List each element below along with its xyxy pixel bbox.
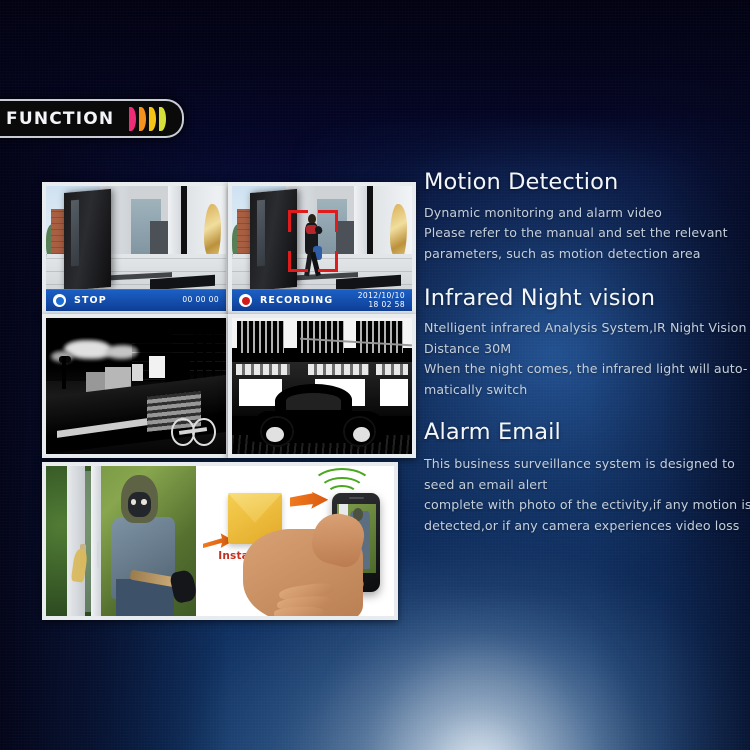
balcony-3: [356, 321, 403, 356]
feature-block-alarm-email: Alarm Email This business surveillance s…: [424, 420, 744, 536]
awning-3: [376, 364, 408, 375]
feature-line: Dynamic monitoring and alarm video: [424, 203, 744, 224]
balcony-1: [237, 321, 284, 356]
function-banner-bars: [129, 107, 166, 131]
car-window: [286, 393, 342, 410]
detection-corner-bottom-left: [288, 251, 308, 273]
window-frame-left: [67, 466, 85, 616]
feature-line: Distance 30M: [424, 339, 744, 360]
status-label-recording: RECORDING: [260, 295, 333, 306]
camera-card-night-alley: [42, 314, 230, 458]
feature-block-infrared-night-vision: Infrared Night vision Ntelligent infrare…: [424, 286, 744, 400]
promo-slide: FUNCTION: [0, 0, 750, 750]
detection-corner-top-left: [288, 210, 308, 232]
facade-cornice: [232, 353, 412, 361]
camera-card-motion-recording: RECORDING 2012/10/10 18 02 58: [228, 182, 416, 315]
alley-window-1: [149, 356, 165, 378]
car-rim-rear: [353, 427, 370, 442]
camera-preview-night-alley: [46, 318, 226, 454]
camera-preview-stop: STOP 00 00 00: [46, 186, 226, 311]
hand-finger-3: [274, 606, 325, 616]
burglar-eye-left: [131, 499, 136, 505]
function-banner-label: FUNCTION: [6, 109, 114, 129]
burglary-photo: [46, 466, 196, 616]
night-car-scene: [232, 318, 412, 454]
night-alley-scene: [46, 318, 226, 454]
lobby-door-glass: [71, 200, 79, 267]
feature-title-motion-detection: Motion Detection: [424, 170, 744, 196]
camera-card-motion-stop: STOP 00 00 00: [42, 182, 230, 315]
status-label-stop: STOP: [74, 295, 107, 306]
lobby-glass-door: [64, 189, 111, 291]
detection-corner-top-right: [318, 210, 338, 232]
motion-detection-box: [288, 210, 338, 273]
lobby-gold-sculpture: [390, 204, 406, 262]
detection-corner-bottom-right: [318, 251, 338, 273]
awning-1: [236, 364, 290, 375]
banner-bar-4: [159, 107, 166, 131]
feature-title-infrared-night-vision: Infrared Night vision: [424, 286, 744, 312]
status-timestamp-recording: 2012/10/10 18 02 58: [358, 292, 405, 309]
camera-card-alarm-email: Instant Email: [42, 462, 398, 620]
stop-indicator-icon: [53, 294, 66, 307]
status-bar-stop: STOP 00 00 00: [46, 289, 226, 311]
feature-title-alarm-email: Alarm Email: [424, 420, 744, 446]
feature-line: When the night comes, the infrared light…: [424, 359, 744, 380]
banner-bar-2: [139, 107, 146, 131]
function-banner: FUNCTION: [0, 99, 184, 138]
banner-bar-1: [129, 107, 136, 131]
email-flow-diagram: Instant Email: [201, 466, 394, 616]
alarm-email-illustration: Instant Email: [46, 466, 394, 616]
parked-car: [254, 386, 387, 443]
phone-speaker: [349, 497, 364, 499]
feature-line: This business surveillance system is des…: [424, 454, 744, 475]
car-rim-front: [266, 427, 283, 442]
feature-line: Ntelligent infrared Analysis System,IR N…: [424, 318, 744, 339]
awning-2: [308, 364, 369, 375]
alarm-email-scene: Instant Email: [46, 466, 394, 616]
feature-text-column: Motion Detection Dynamic monitoring and …: [424, 170, 744, 536]
alley-window-2: [132, 364, 143, 380]
feature-line: Please refer to the manual and set the r…: [424, 223, 744, 244]
lobby-door-glass: [257, 200, 265, 267]
recording-indicator-icon: [239, 294, 252, 307]
status-bar-recording: RECORDING 2012/10/10 18 02 58: [232, 289, 412, 311]
camera-card-night-car: [228, 314, 416, 458]
status-timestamp-stop: 00 00 00: [182, 296, 219, 305]
feature-line: complete with photo of the ectivity,if a…: [424, 495, 744, 516]
lobby-gold-sculpture: [204, 204, 220, 262]
burglar-balaclava-mask: [128, 492, 151, 517]
camera-preview-recording: RECORDING 2012/10/10 18 02 58: [232, 186, 412, 311]
feature-line: seed an email alert: [424, 475, 744, 496]
burglar-eye-right: [141, 499, 146, 505]
banner-bar-3: [149, 107, 156, 131]
alley-bicycle: [170, 408, 217, 446]
camera-preview-night-car: [232, 318, 412, 454]
feature-line: parameters, such as motion detection are…: [424, 244, 744, 265]
feature-block-motion-detection: Motion Detection Dynamic monitoring and …: [424, 170, 744, 264]
window-handle-right: [97, 541, 101, 568]
alley-lamp-post: [62, 356, 66, 389]
burglar-figure: [106, 475, 193, 616]
recording-time: 18 02 58: [368, 300, 405, 309]
feature-line: detected,or if any camera experiences vi…: [424, 516, 744, 537]
feature-line: matically switch: [424, 380, 744, 401]
